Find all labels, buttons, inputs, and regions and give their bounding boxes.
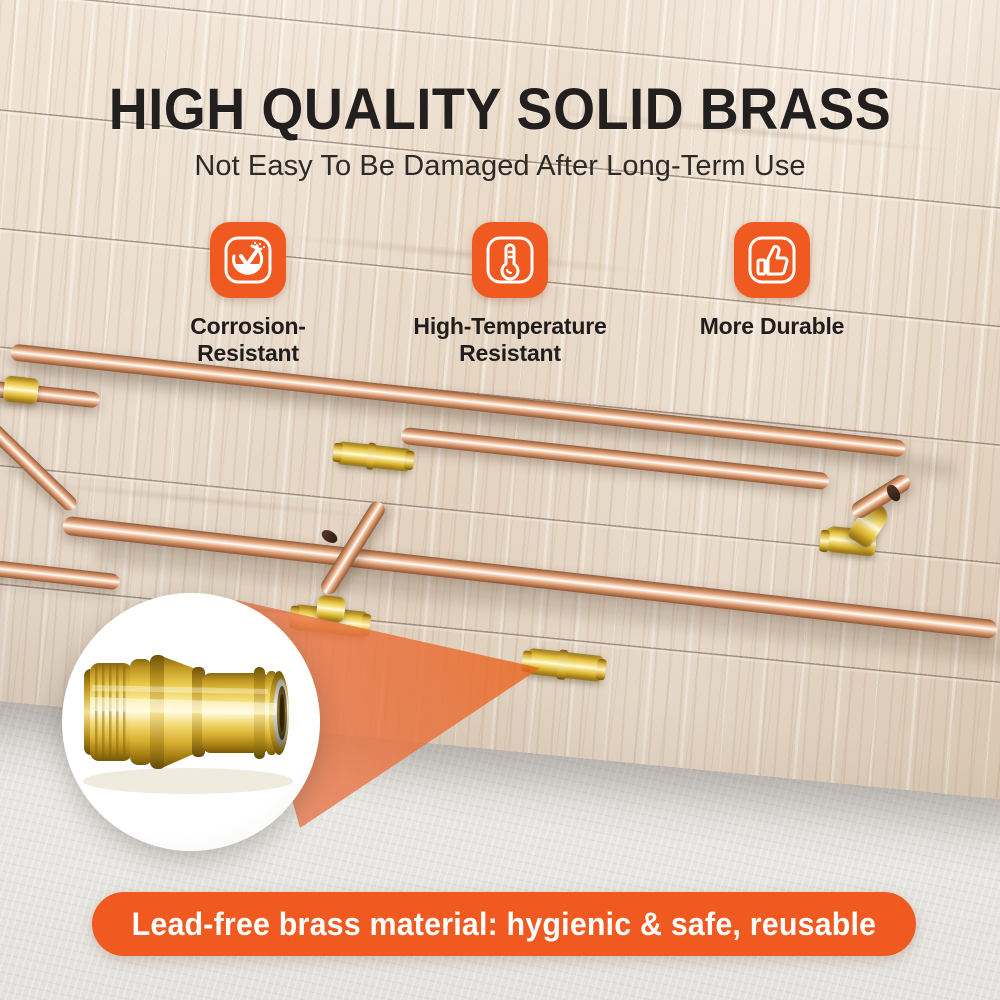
feature-high-temperature-resistant: High-Temperature Resistant bbox=[392, 222, 628, 366]
feature-label: More Durable bbox=[700, 313, 845, 340]
page-subtitle: Not Easy To Be Damaged After Long-Term U… bbox=[0, 150, 1000, 183]
bottom-banner-text: Lead-free brass material: hygienic & saf… bbox=[132, 906, 877, 943]
feature-label: High-Temperature Resistant bbox=[413, 313, 606, 366]
thumbs-up-icon bbox=[746, 234, 798, 286]
badge-corrosion-resistant bbox=[210, 222, 286, 298]
product-marketing-image: HIGH QUALITY SOLID BRASS Not Easy To Be … bbox=[0, 0, 1000, 1000]
feature-corrosion-resistant: Corrosion- Resistant bbox=[130, 222, 366, 366]
brass-coupling-closeup bbox=[62, 593, 320, 851]
feature-list: Corrosion- Resistant High-Temperature Re… bbox=[130, 222, 890, 382]
bottom-banner: Lead-free brass material: hygienic & saf… bbox=[92, 892, 916, 956]
brass-fitting-left-upper bbox=[3, 375, 40, 405]
page-title: HIGH QUALITY SOLID BRASS bbox=[35, 76, 965, 143]
thermometer-icon bbox=[484, 234, 536, 286]
feature-label: Corrosion- Resistant bbox=[190, 313, 306, 366]
badge-high-temperature bbox=[472, 222, 548, 298]
feature-more-durable: More Durable bbox=[654, 222, 890, 340]
magnifier-circle-inset bbox=[62, 593, 320, 851]
corrosion-resistant-icon bbox=[222, 234, 274, 286]
badge-more-durable bbox=[734, 222, 810, 298]
